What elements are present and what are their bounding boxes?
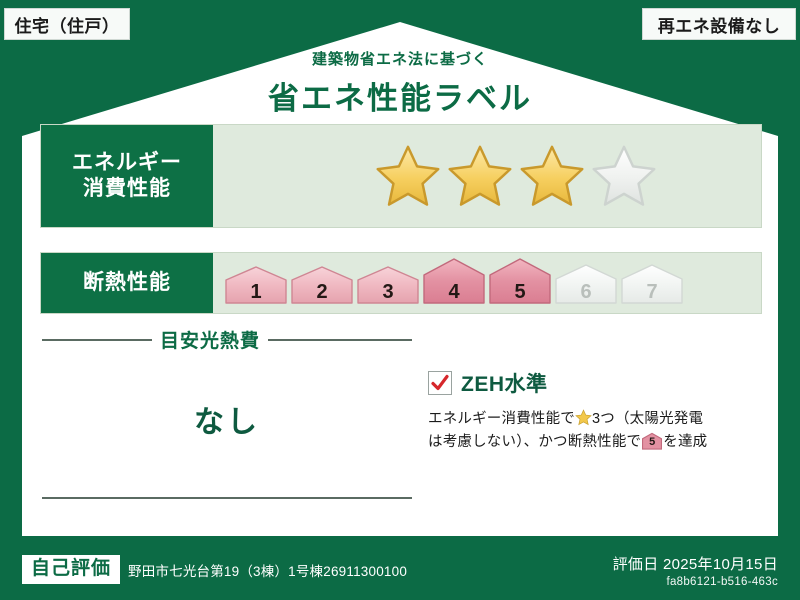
energy-performance-label: 住宅（住戸） 再エネ設備なし 建築物省エネ法に基づく 省エネ性能ラベル エネルギ…: [0, 0, 800, 600]
star-icon: [575, 409, 592, 426]
property-address: 野田市七光台第19（3棟）1号棟26911300100: [128, 560, 407, 580]
utility-cost-bottom-rule: [42, 497, 412, 499]
utility-cost-block: 目安光熱費 なし: [42, 326, 412, 499]
zeh-desc-part1: エネルギー消費性能で: [428, 411, 575, 427]
insulation-badge-number: 2: [291, 281, 353, 304]
insulation-badge-number: 3: [357, 281, 419, 304]
zeh-checkbox-checked-icon: [428, 371, 452, 395]
renewable-equipment-tag: 再エネ設備なし: [642, 8, 796, 40]
rule-left: [42, 339, 152, 341]
insulation-badge-7: 7: [621, 264, 683, 309]
house-rating-scale: 1234567: [225, 253, 683, 313]
insulation-badge-1: 1: [225, 266, 287, 309]
energy-label-line1: エネルギー: [72, 150, 182, 176]
zeh-desc-part3: を達成: [663, 434, 707, 450]
insulation-badge-5: 5: [489, 258, 551, 309]
insulation-performance-row: 断熱性能 1234567: [40, 252, 762, 314]
title-subtitle: 建築物省エネ法に基づく: [0, 48, 800, 69]
title-main: 省エネ性能ラベル: [0, 73, 800, 118]
energy-consumption-label: エネルギー 消費性能: [41, 125, 213, 227]
insulation-badge-4: 4: [423, 258, 485, 309]
building-type-tag: 住宅（住戸）: [4, 8, 130, 40]
document-id: fa8b6121-b516-463c: [613, 576, 778, 588]
energy-label-line2: 消費性能: [83, 176, 171, 202]
insulation-badge-3: 3: [357, 266, 419, 309]
star-filled-icon: [447, 143, 513, 209]
house-badge-number: 5: [641, 434, 663, 452]
zeh-description: エネルギー消費性能で 3つ（太陽光発電 は考慮しない）、かつ断熱性能で 5 を達…: [428, 408, 758, 455]
zeh-desc-stars: 3つ（太陽光発電: [592, 411, 703, 427]
footer-right: 評価日 2025年10月15日 fa8b6121-b516-463c: [613, 553, 778, 588]
energy-consumption-row: エネルギー 消費性能: [40, 124, 762, 228]
insulation-badge-number: 4: [423, 281, 485, 304]
star-filled-icon: [519, 143, 585, 209]
zeh-title: ZEH水準: [461, 368, 548, 398]
insulation-rating-value: 1234567: [213, 253, 761, 313]
insulation-badge-number: 7: [621, 281, 683, 304]
star-empty-icon: [591, 143, 657, 209]
insulation-badge-6: 6: [555, 264, 617, 309]
zeh-header: ZEH水準: [428, 368, 758, 398]
utility-cost-value: なし: [42, 397, 412, 441]
insulation-badge-number: 6: [555, 281, 617, 304]
insulation-badge-number: 1: [225, 281, 287, 304]
insulation-badge-2: 2: [291, 266, 353, 309]
zeh-desc-part2: は考慮しない）、かつ断熱性能で: [428, 434, 641, 450]
rule-right: [268, 339, 412, 341]
zeh-block: ZEH水準 エネルギー消費性能で 3つ（太陽光発電 は考慮しない）、かつ断熱性能…: [428, 368, 758, 455]
utility-cost-header: 目安光熱費: [42, 326, 412, 353]
utility-cost-title: 目安光熱費: [160, 326, 260, 353]
page-title: 建築物省エネ法に基づく 省エネ性能ラベル: [0, 48, 800, 118]
footer-left: 自己評価 野田市七光台第19（3棟）1号棟26911300100: [22, 555, 407, 584]
energy-rating-value: [213, 125, 761, 227]
star-rating: [375, 143, 657, 209]
self-evaluation-badge: 自己評価: [22, 555, 120, 584]
insulation-badge-number: 5: [489, 281, 551, 304]
house-badge-icon: 5: [641, 432, 663, 450]
star-filled-icon: [375, 143, 441, 209]
insulation-label: 断熱性能: [41, 253, 213, 313]
evaluation-date: 評価日 2025年10月15日: [613, 553, 778, 574]
